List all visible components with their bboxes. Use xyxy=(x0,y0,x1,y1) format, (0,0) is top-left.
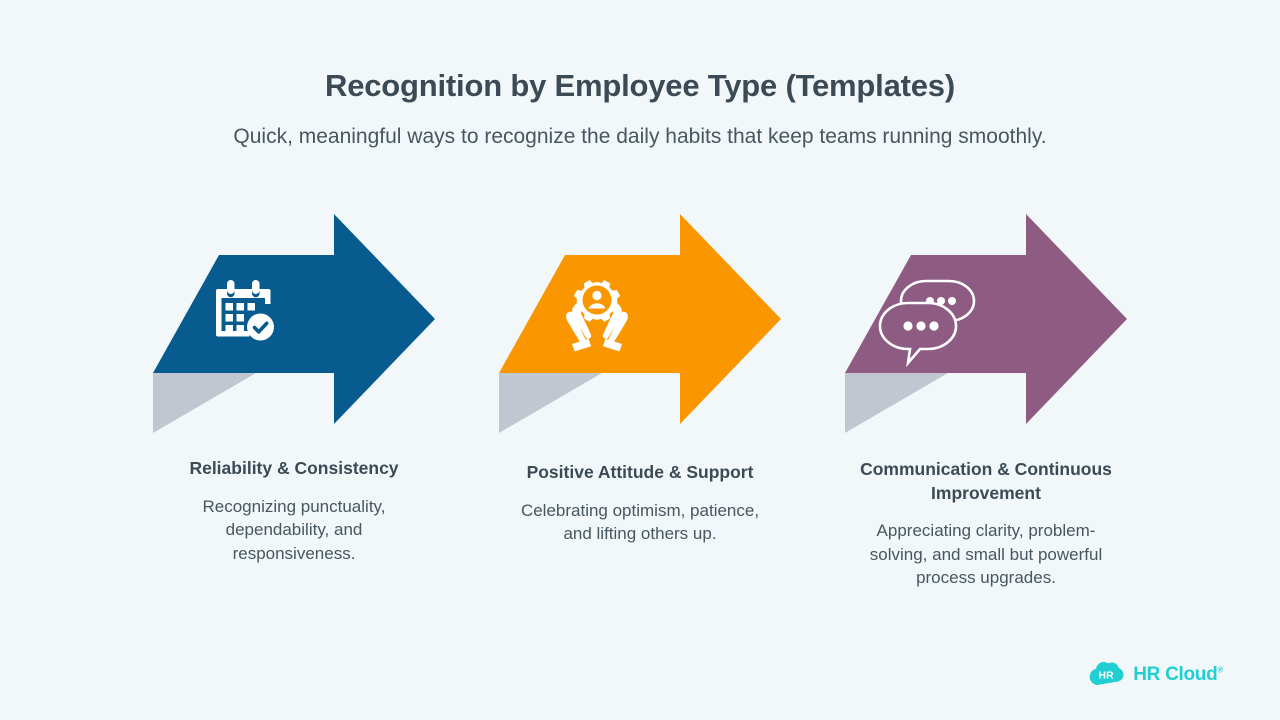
caption-1: Reliability & Consistency Recognizing pu… xyxy=(168,457,420,565)
column-heading-2: Positive Attitude & Support xyxy=(514,461,766,485)
fold-corner-3 xyxy=(845,373,948,433)
page-title: Recognition by Employee Type (Templates) xyxy=(0,68,1280,104)
column-positive-attitude: Positive Attitude & Support Celebrating … xyxy=(467,205,813,546)
fold-corner-1 xyxy=(153,373,256,433)
arrow-columns: Reliability & Consistency Recognizing pu… xyxy=(0,205,1280,590)
fold-corner-2 xyxy=(499,373,602,433)
arrow-graphic-1 xyxy=(144,205,444,433)
page-subtitle: Quick, meaningful ways to recognize the … xyxy=(0,123,1280,150)
registered-mark: ® xyxy=(1217,665,1223,674)
logo-wordmark: HR Cloud® xyxy=(1133,665,1223,684)
column-heading-3: Communication & Continuous Improvement xyxy=(860,458,1112,505)
arrow-graphic-3 xyxy=(836,205,1136,433)
column-body-2: Celebrating optimism, patience, and lift… xyxy=(514,499,766,546)
cloud-icon-label: HR xyxy=(1099,670,1115,682)
column-body-3: Appreciating clarity, problem-solving, a… xyxy=(860,519,1112,589)
header: Recognition by Employee Type (Templates)… xyxy=(0,68,1280,150)
column-body-1: Recognizing punctuality, dependability, … xyxy=(168,495,420,565)
column-reliability: Reliability & Consistency Recognizing pu… xyxy=(121,205,467,565)
cloud-icon: HR xyxy=(1088,661,1124,687)
hr-cloud-logo: HR HR Cloud® xyxy=(1088,661,1223,687)
slide-canvas: Recognition by Employee Type (Templates)… xyxy=(0,0,1280,720)
caption-2: Positive Attitude & Support Celebrating … xyxy=(514,461,766,546)
logo-name: HR Cloud xyxy=(1133,664,1217,685)
caption-3: Communication & Continuous Improvement A… xyxy=(860,458,1112,590)
column-communication: Communication & Continuous Improvement A… xyxy=(813,205,1159,590)
arrow-graphic-2 xyxy=(490,205,790,433)
column-heading-1: Reliability & Consistency xyxy=(168,457,420,481)
